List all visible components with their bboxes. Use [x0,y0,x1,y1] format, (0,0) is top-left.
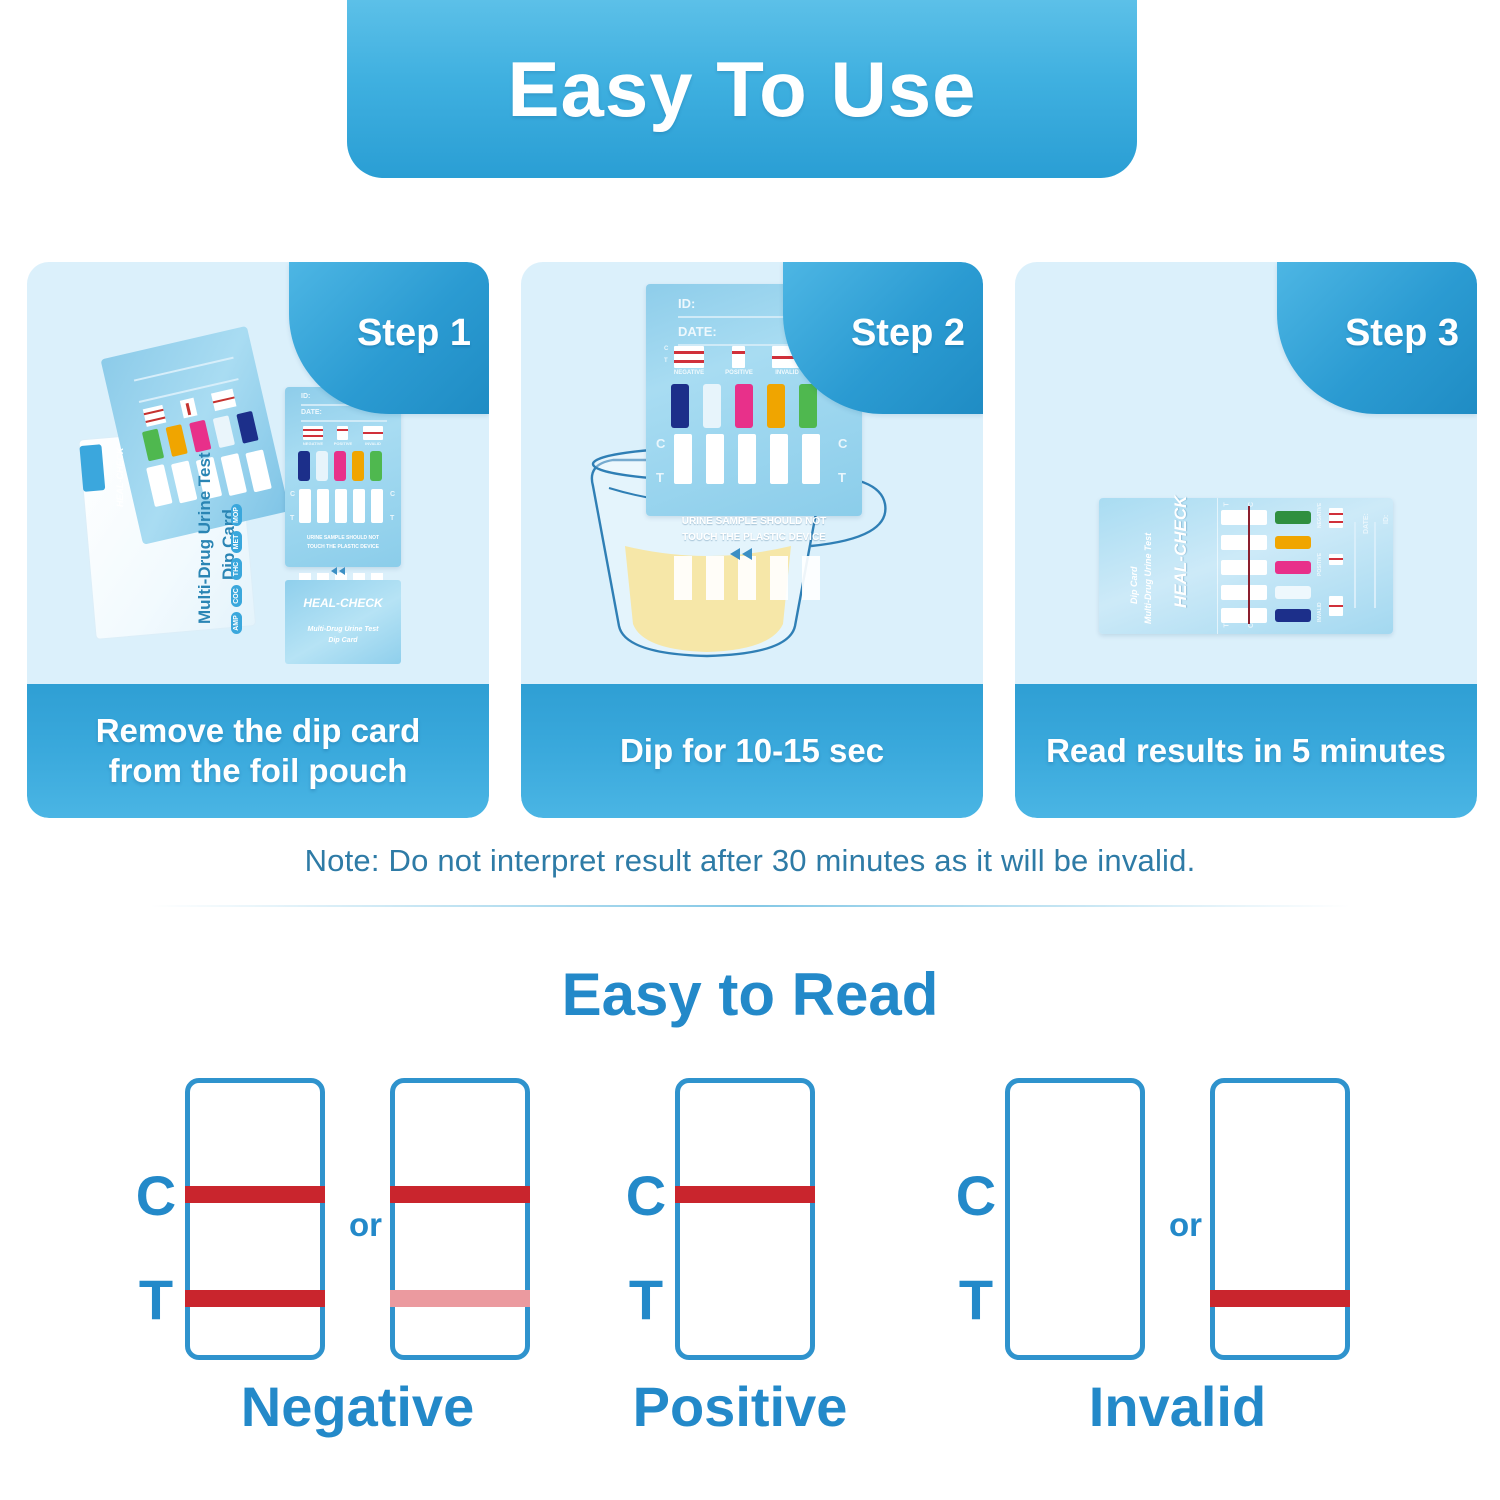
drug-chip-thc [298,451,310,481]
step-1-dip-card: ID: DATE: NEGATIVE POSITIVE INVALID [285,387,401,567]
dip-card-warning-1: URINE SAMPLE SHOULD NOT [285,535,401,541]
step-2-strips [646,548,862,604]
drug-chip-val [703,384,721,428]
drug-chip-val [316,451,328,481]
dip-card-positive-icon [1329,554,1343,565]
result-strip-invalid-2 [1210,1078,1350,1360]
dip-card-warning-2: TOUCH THE PLASTIC DEVICE [285,544,401,550]
dip-card-negative-icon [303,426,323,440]
step-caption-2: Dip for 10-15 sec [521,684,983,818]
drug-chip-met [799,384,817,428]
step-card-1: Multi-Drug Urine Test Dip Card HEAL-CHEC… [27,262,489,818]
dip-card-window [1221,585,1267,600]
dip-card-key-negative: NEGATIVE [1317,503,1323,528]
result-strip-negative-2 [390,1078,530,1360]
dip-card-window [706,434,724,484]
result-label-negative: Negative [185,1374,530,1439]
dip-card-date-label: DATE: [678,324,717,339]
dip-card-warning-1: URINE SAMPLE SHOULD NOT [646,516,862,527]
pouch-brand: HEAL-CHECK [115,448,125,508]
dip-card-c-left: C [290,491,295,498]
drug-chip-amp [1275,586,1311,599]
dip-card-negative-icon [674,346,704,368]
step-2-caption-line1: Dip for 10-15 sec [606,731,898,771]
control-band [390,1186,530,1203]
dip-card-invalid-icon [1329,596,1343,616]
dip-card-t-top: T [1224,502,1231,506]
dip-card-positive-icon [732,346,745,368]
control-label: C [950,1168,1002,1224]
step-1-brand-box: HEAL-CHECK Multi-Drug Urine Test Dip Car… [285,580,401,664]
control-band [185,1186,325,1203]
dip-card-window [1221,510,1267,525]
dip-card-id-label: ID: [1383,515,1390,524]
result-strip-positive-1 [675,1078,815,1360]
dip-card-window [738,434,756,484]
pouch-pill-met: MET [231,531,242,553]
dip-card-t-right: T [390,515,394,522]
step-1-caption-line1: Remove the dip card [96,712,421,749]
step-1-caption-line2: from the foil pouch [109,752,408,789]
control-band [675,1186,815,1203]
dip-card-key-negative: NEGATIVE [668,370,710,376]
drug-chip-mop [1275,561,1311,574]
step-card-3: HEAL-CHECK Multi-Drug Urine Test Dip Car… [1015,262,1477,818]
dip-card-key-invalid: INVALID [1317,602,1323,622]
brand-product-line1: Multi-Drug Urine Test [1143,533,1153,624]
brand-name: HEAL-CHECK [1171,496,1191,608]
pouch-pill-thc: THC [231,558,242,580]
dip-card-id-label: ID: [301,393,310,400]
drug-chip-thc [671,384,689,428]
dip-card-date-rule [1354,522,1356,608]
read-section-title: Easy to Read [0,960,1500,1029]
result-strip-invalid-1 [1005,1078,1145,1360]
pouch-pill-coc: COC [231,585,242,607]
dip-card-id-rule [1374,522,1376,608]
drug-chip-coc [767,384,785,428]
drug-chip-mop [334,451,346,481]
step-caption-3: Read results in 5 minutes [1015,684,1477,818]
drug-chip-coc [1275,536,1311,549]
result-card-brand-half: HEAL-CHECK Multi-Drug Urine Test Dip Car… [1099,498,1218,634]
dip-card-negative-icon [1329,508,1343,528]
step-badge-label: Step 2 [851,312,983,365]
drug-chip-met [370,451,382,481]
dip-card-window [353,489,365,523]
dip-card-date-rule [301,420,387,422]
dip-card-window [371,489,383,523]
result-label-invalid: Invalid [1005,1374,1350,1439]
dip-card-c-right: C [838,436,847,451]
dip-card-positive-icon [337,426,348,440]
dip-card-key-negative: NEGATIVE [297,441,329,446]
drug-chip-met [1275,511,1311,524]
header-banner: Easy To Use [347,0,1137,178]
drug-chip-mop [735,384,753,428]
step-card-2: ID: DATE: C T NEGATIVE POSITIVE INVALID [521,262,983,818]
dip-card-c-left: C [656,436,665,451]
dip-card-window [317,489,329,523]
dip-card-t-left: T [290,515,294,522]
steps-row: Multi-Drug Urine Test Dip Card HEAL-CHEC… [27,262,1477,818]
step-caption-1: Remove the dip card from the foil pouch [27,684,489,818]
test-band-faint [390,1290,530,1307]
dip-card-t-bottom: T [1224,623,1231,627]
pouch-product-line1: Multi-Drug Urine Test [195,452,215,624]
page-title: Easy To Use [507,44,976,135]
dip-card-window [802,434,820,484]
step-3-result-card: HEAL-CHECK Multi-Drug Urine Test Dip Car… [1099,498,1393,634]
dip-card-c-right: C [390,491,395,498]
step-badge-label: Step 1 [357,312,489,365]
section-divider [150,905,1350,907]
dip-card-t-left: T [656,470,664,485]
test-label: T [620,1272,672,1328]
dip-card-t-mini: T [664,358,668,364]
dip-card-c-mini: C [664,346,668,352]
pouch-pill-amp: AMP [231,612,242,634]
brand-name: HEAL-CHECK [285,596,401,610]
step-badge-label: Step 3 [1345,312,1477,365]
control-label: C [130,1168,182,1224]
control-label: C [620,1168,672,1224]
ct-labels: C T [620,1078,672,1360]
dip-card-window [335,489,347,523]
result-strip-negative-1 [185,1078,325,1360]
dip-card-key-positive: POSITIVE [329,441,357,446]
dip-card-date-label: DATE: [301,409,322,416]
test-label: T [950,1272,1002,1328]
dip-card-date-label: DATE: [1363,513,1370,534]
ct-labels: C T [130,1078,182,1360]
test-label: T [130,1272,182,1328]
pouch-pill-mop: MOP [231,504,242,526]
results-row: C T or Negative C T Positive C T or [0,1078,1500,1438]
drug-chip-coc [352,451,364,481]
dip-card-window [1221,535,1267,550]
dip-card-window [770,434,788,484]
dip-card-window [1221,608,1267,623]
dip-card-key-positive: POSITIVE [718,370,760,376]
dip-card-window [1221,560,1267,575]
brand-product-line1: Multi-Drug Urine Test [285,626,401,633]
test-band [185,1290,325,1307]
result-card-window-half: T C T C NEGATIVE POSITIVE [1217,498,1393,634]
test-band [1210,1290,1350,1307]
note-text: Note: Do not interpret result after 30 m… [0,843,1500,879]
dip-card-id-label: ID: [678,296,695,311]
dip-card-t-right: T [838,470,846,485]
dip-card-window [299,489,311,523]
ct-labels: C T [950,1078,1002,1360]
brand-product-line2: Dip Card [285,637,401,644]
drug-chip-thc [1275,609,1311,622]
dip-card-key-invalid: INVALID [359,441,387,446]
dip-card-invalid-icon [363,426,383,440]
dip-card-warning-2: TOUCH THE PLASTIC DEVICE [646,532,862,543]
dip-card-window [674,434,692,484]
brand-product-line2: Dip Card [1129,566,1139,604]
or-label: or [1169,1206,1202,1244]
or-label: or [349,1206,382,1244]
result-label-positive: Positive [600,1374,880,1439]
result-band-line [1248,506,1250,624]
step-3-caption-line1: Read results in 5 minutes [1032,731,1460,771]
dip-card-key-positive: POSITIVE [1317,553,1323,576]
